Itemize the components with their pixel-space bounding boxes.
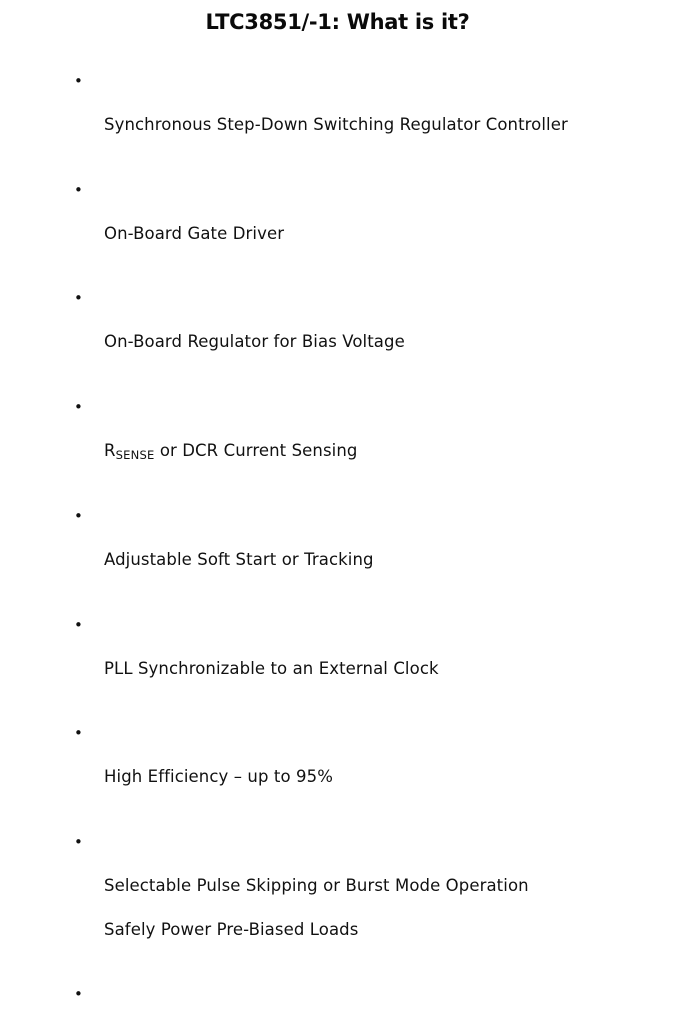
bullet-list: • Synchronous Step-Down Switching Regula… <box>0 70 675 1012</box>
list-item-label: High Efficiency – up to 95% <box>104 766 675 788</box>
rsense-base: R <box>104 441 116 460</box>
list-item-label: On-Board Regulator for Bias Voltage <box>104 331 675 353</box>
page-title: LTC3851/-1: What is it? <box>0 9 675 35</box>
bullet-point-icon: • <box>74 505 86 527</box>
bullet-point-icon: • <box>74 614 86 636</box>
list-item: • High Efficiency – up to 95% <box>0 722 675 810</box>
list-item: • On-Board Regulator for Bias Voltage <box>0 287 675 375</box>
list-item-label: Synchronous Step-Down Switching Regulato… <box>104 114 675 136</box>
list-item: • On-Board Gate Driver <box>0 179 675 267</box>
list-item-label: On-Board Gate Driver <box>104 223 675 245</box>
list-item-label: Selectable Pulse Skipping or Burst Mode … <box>104 875 675 897</box>
bullet-point-icon: • <box>74 831 86 853</box>
rsense-subscript: SENSE <box>116 448 155 462</box>
list-item-label: RSENSE or DCR Current Sensing <box>104 440 675 463</box>
list-item-label-line2: Safely Power Pre-Biased Loads <box>104 919 675 941</box>
bullet-point-icon: • <box>74 396 86 418</box>
bullet-point-icon: • <box>74 179 86 201</box>
bullet-point-icon: • <box>74 70 86 92</box>
list-item: • Adjustable Soft Start or Tracking <box>0 505 675 593</box>
list-item: • PLL Synchronizable to an External Cloc… <box>0 614 675 702</box>
list-item-label: Adjustable Soft Start or Tracking <box>104 549 675 571</box>
bullet-point-icon: • <box>74 287 86 309</box>
list-item: • RSENSE or DCR Current Sensing <box>0 396 675 485</box>
list-item: • Ideal for Point-of-Load Regulator Appl… <box>0 983 675 1012</box>
slide-canvas: LTC3851/-1: What is it? • Synchronous St… <box>0 0 675 506</box>
rsense-suffix: or DCR Current Sensing <box>154 441 357 460</box>
list-item: • Selectable Pulse Skipping or Burst Mod… <box>0 831 675 963</box>
bullet-point-icon: • <box>74 983 86 1005</box>
list-item: • Synchronous Step-Down Switching Regula… <box>0 70 675 158</box>
list-item-label: PLL Synchronizable to an External Clock <box>104 658 675 680</box>
bullet-point-icon: • <box>74 722 86 744</box>
